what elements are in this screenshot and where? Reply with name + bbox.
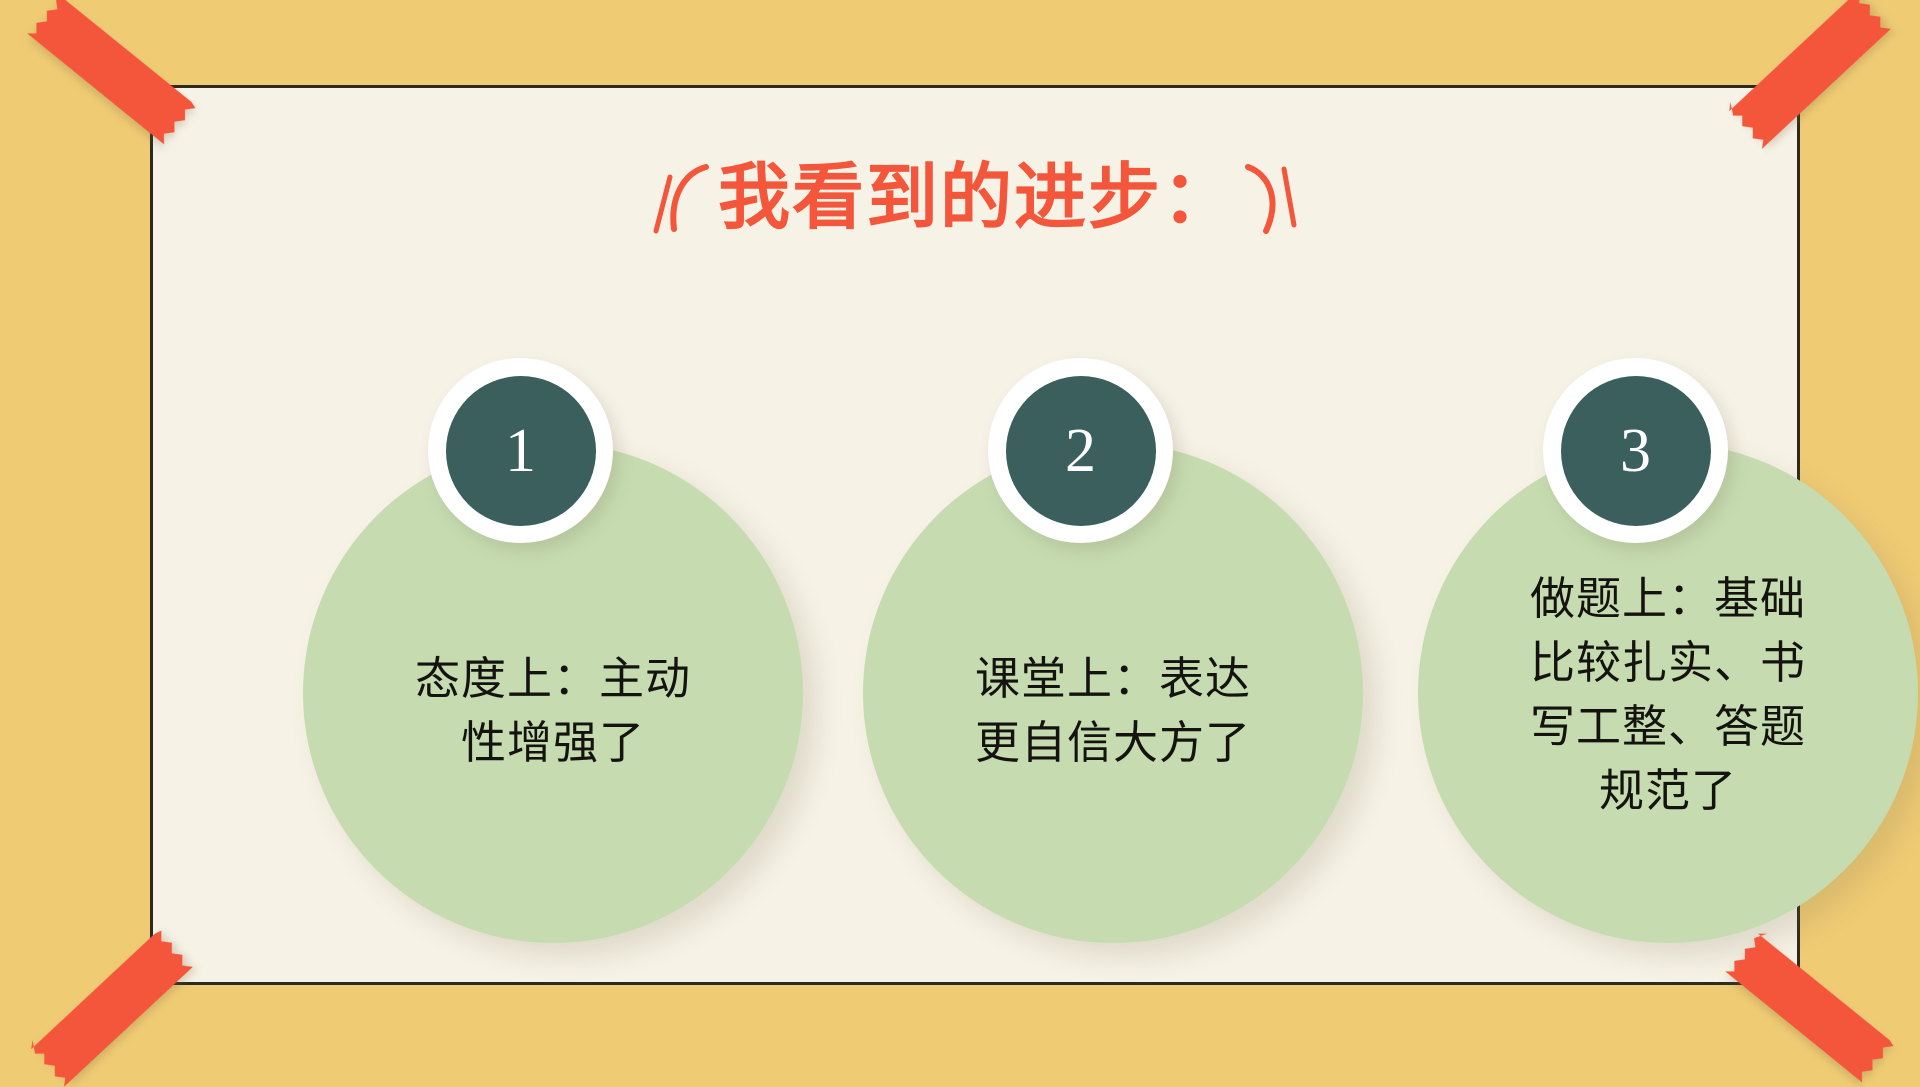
item-number-badge-inner: 3: [1561, 376, 1711, 526]
progress-item-2[interactable]: 课堂上：表达 更自信大方了 2: [853, 358, 1373, 978]
tape-bottom-left-icon: [27, 929, 197, 1087]
progress-items: 态度上：主动 性增强了 1 课堂上：表达 更自信大方了 2 做题: [153, 88, 1797, 982]
item-number-badge: 3: [1543, 358, 1728, 543]
item-number-badge-inner: 2: [1006, 376, 1156, 526]
item-caption: 课堂上：表达 更自信大方了: [888, 648, 1338, 776]
progress-item-1[interactable]: 态度上：主动 性增强了 1: [293, 358, 813, 978]
item-number-badge: 2: [988, 358, 1173, 543]
slide-canvas: 我看到的进步： 态度上：主动 性增强了 1: [0, 0, 1920, 1080]
item-number: 3: [1620, 420, 1651, 482]
content-panel: 我看到的进步： 态度上：主动 性增强了 1: [150, 85, 1800, 985]
item-caption: 态度上：主动 性增强了: [328, 648, 778, 776]
item-number-badge: 1: [428, 358, 613, 543]
progress-item-3[interactable]: 做题上：基础 比较扎实、书 写工整、答题 规范了 3: [1408, 358, 1920, 978]
tape-top-right-icon: [1725, 0, 1895, 149]
tape-top-left-icon: [27, 0, 197, 149]
item-caption: 做题上：基础 比较扎实、书 写工整、答题 规范了: [1443, 568, 1893, 824]
item-number-badge-inner: 1: [446, 376, 596, 526]
item-number: 1: [505, 420, 536, 482]
item-number: 2: [1065, 420, 1096, 482]
